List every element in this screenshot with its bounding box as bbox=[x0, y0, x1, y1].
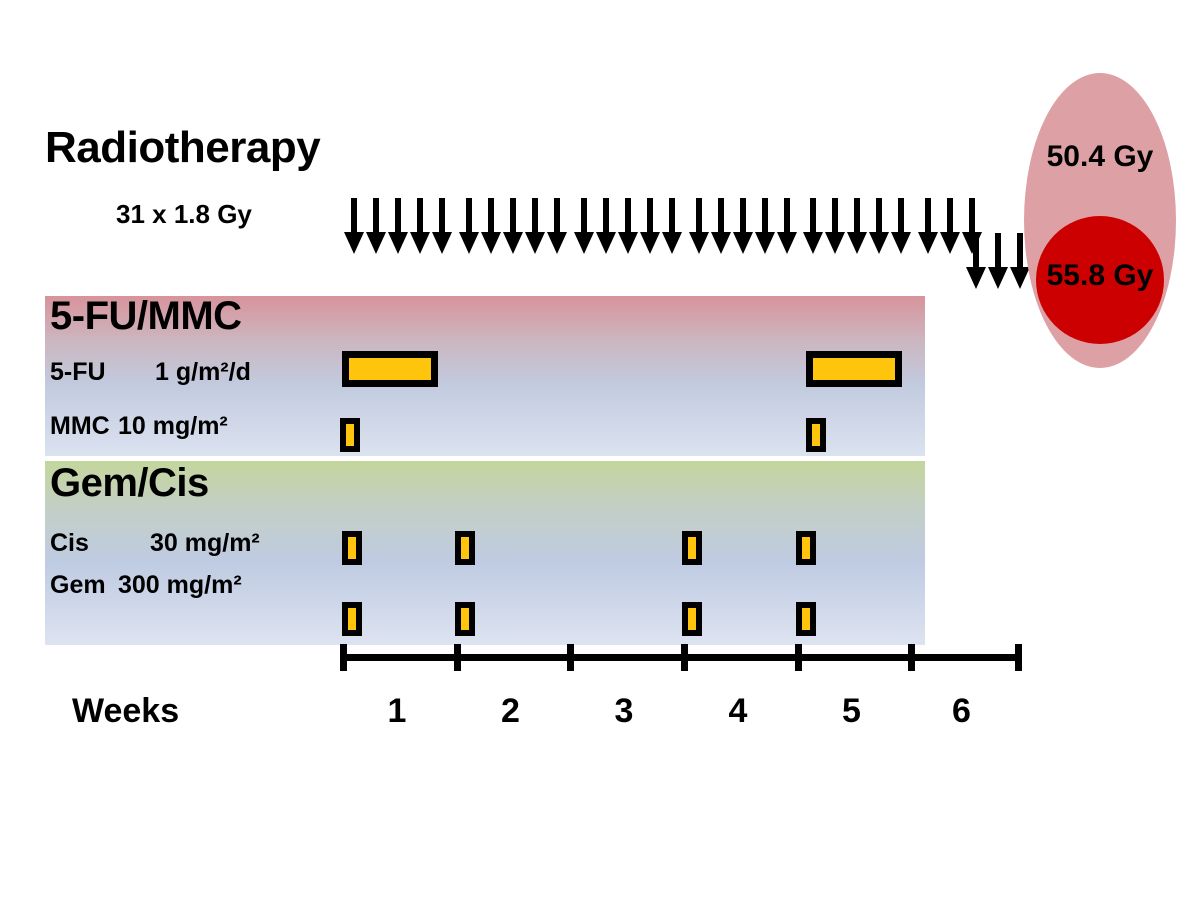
timeline-tick-3 bbox=[681, 644, 688, 671]
drug-name-5fu: 5-FU bbox=[50, 358, 155, 387]
arrow-head bbox=[574, 232, 594, 254]
arrow-shaft bbox=[395, 198, 401, 236]
arrow-head bbox=[547, 232, 567, 254]
arrow-shaft bbox=[832, 198, 838, 236]
timeline-tick-5 bbox=[908, 644, 915, 671]
arrow-shaft bbox=[625, 198, 631, 236]
treatment-marker-cis bbox=[342, 531, 362, 565]
arrow-shaft bbox=[603, 198, 609, 236]
arrow-shaft bbox=[696, 198, 702, 236]
arrow-shaft bbox=[669, 198, 675, 236]
radiation-fraction-arrow-icon bbox=[344, 198, 364, 254]
treatment-marker-5fu bbox=[342, 351, 438, 387]
arrow-head bbox=[940, 232, 960, 254]
arrow-head bbox=[640, 232, 660, 254]
arrow-shaft bbox=[581, 198, 587, 236]
drug-label-cis: Cis30 mg/m² bbox=[50, 529, 260, 558]
radiation-fraction-arrow-icon bbox=[503, 198, 523, 254]
treatment-marker-cis bbox=[455, 531, 475, 565]
arrow-shaft bbox=[417, 198, 423, 236]
treatment-marker-mmc bbox=[340, 418, 360, 452]
drug-name-mmc: MMC bbox=[50, 412, 118, 441]
timeline-axis-label: Weeks bbox=[72, 692, 179, 731]
radiation-fraction-arrow-icon bbox=[574, 198, 594, 254]
week-label-3: 3 bbox=[594, 692, 654, 731]
arrow-shaft bbox=[532, 198, 538, 236]
timeline-tick-0 bbox=[340, 644, 347, 671]
arrow-head bbox=[410, 232, 430, 254]
arrow-head bbox=[459, 232, 479, 254]
treatment-marker-5fu bbox=[806, 351, 902, 387]
week-label-1: 1 bbox=[367, 692, 427, 731]
arrow-head bbox=[777, 232, 797, 254]
arrow-shaft bbox=[876, 198, 882, 236]
arrow-shaft bbox=[373, 198, 379, 236]
week-label-4: 4 bbox=[708, 692, 768, 731]
radiation-fraction-arrow-icon bbox=[618, 198, 638, 254]
arrow-shaft bbox=[718, 198, 724, 236]
arrow-head bbox=[918, 232, 938, 254]
arrow-head bbox=[869, 232, 889, 254]
regimen-band-gem-cis: Gem/Cis Cis30 mg/m² Gem300 mg/m² bbox=[45, 461, 925, 645]
week-label-5: 5 bbox=[822, 692, 882, 731]
radiation-fraction-arrow-icon bbox=[662, 198, 682, 254]
treatment-marker-cis bbox=[796, 531, 816, 565]
arrow-shaft bbox=[995, 233, 1001, 271]
arrow-shaft bbox=[439, 198, 445, 236]
radiation-fraction-arrow-icon bbox=[966, 233, 986, 289]
arrow-head bbox=[366, 232, 386, 254]
week-label-2: 2 bbox=[481, 692, 541, 731]
radiation-fraction-arrow-icon bbox=[803, 198, 823, 254]
arrow-head bbox=[988, 267, 1008, 289]
arrow-shaft bbox=[740, 198, 746, 236]
arrow-shaft bbox=[554, 198, 560, 236]
arrow-head bbox=[711, 232, 731, 254]
arrow-shaft bbox=[898, 198, 904, 236]
regimen-title-gem-cis: Gem/Cis bbox=[50, 461, 209, 506]
arrow-head bbox=[596, 232, 616, 254]
radiation-fraction-arrow-icon bbox=[869, 198, 889, 254]
radiation-fraction-arrow-icon bbox=[918, 198, 938, 254]
arrow-head bbox=[432, 232, 452, 254]
arrow-shaft bbox=[925, 198, 931, 236]
treatment-marker-cis bbox=[682, 531, 702, 565]
regimen-title-fu-mmc: 5-FU/MMC bbox=[50, 294, 242, 339]
arrow-shaft bbox=[466, 198, 472, 236]
treatment-marker-gem bbox=[682, 602, 702, 636]
arrow-head bbox=[962, 232, 982, 254]
arrow-shaft bbox=[973, 233, 979, 271]
arrow-head bbox=[689, 232, 709, 254]
radiation-fraction-arrow-icon bbox=[640, 198, 660, 254]
arrow-shaft bbox=[510, 198, 516, 236]
radiation-fraction-arrow-icon bbox=[432, 198, 452, 254]
drug-name-gem: Gem bbox=[50, 571, 118, 600]
radiation-fraction-arrow-icon bbox=[988, 233, 1008, 289]
arrow-head bbox=[525, 232, 545, 254]
radiotherapy-title: Radiotherapy bbox=[45, 123, 320, 173]
arrow-head bbox=[755, 232, 775, 254]
arrow-shaft bbox=[854, 198, 860, 236]
timeline-tick-6 bbox=[1015, 644, 1022, 671]
diagram-canvas: Radiotherapy 31 x 1.8 Gy 50.4 Gy 55.8 Gy… bbox=[0, 0, 1200, 900]
treatment-marker-mmc bbox=[806, 418, 826, 452]
radiation-fraction-arrow-icon bbox=[459, 198, 479, 254]
drug-dose-gem: 300 mg/m² bbox=[118, 571, 242, 600]
radiation-fraction-arrow-icon bbox=[940, 198, 960, 254]
arrow-head bbox=[662, 232, 682, 254]
radiation-fraction-arrow-icon bbox=[547, 198, 567, 254]
drug-label-5fu: 5-FU1 g/m²/d bbox=[50, 358, 251, 387]
arrow-shaft bbox=[784, 198, 790, 236]
arrow-head bbox=[733, 232, 753, 254]
dose-level-diagram: 50.4 Gy 55.8 Gy bbox=[1024, 73, 1176, 368]
arrow-head bbox=[618, 232, 638, 254]
drug-dose-mmc: 10 mg/m² bbox=[118, 412, 228, 441]
arrow-head bbox=[503, 232, 523, 254]
arrow-shaft bbox=[647, 198, 653, 236]
regimen-band-fu-mmc: 5-FU/MMC 5-FU1 g/m²/d MMC10 mg/m² bbox=[45, 296, 925, 456]
radiation-fraction-arrow-icon bbox=[689, 198, 709, 254]
radiation-fraction-arrow-icon bbox=[410, 198, 430, 254]
arrow-shaft bbox=[1017, 233, 1023, 271]
radiation-fraction-arrow-icon bbox=[891, 198, 911, 254]
timeline-tick-4 bbox=[795, 644, 802, 671]
arrow-shaft bbox=[947, 198, 953, 236]
arrow-shaft bbox=[810, 198, 816, 236]
treatment-marker-gem bbox=[342, 602, 362, 636]
radiation-fraction-arrow-icon bbox=[962, 198, 982, 254]
radiation-fraction-arrow-icon bbox=[596, 198, 616, 254]
arrow-head bbox=[847, 232, 867, 254]
radiation-fraction-arrow-icon bbox=[711, 198, 731, 254]
drug-dose-cis: 30 mg/m² bbox=[150, 529, 260, 558]
arrow-head bbox=[344, 232, 364, 254]
arrow-head bbox=[891, 232, 911, 254]
drug-label-gem: Gem300 mg/m² bbox=[50, 571, 242, 600]
radiation-fraction-arrow-icon bbox=[388, 198, 408, 254]
radiation-fraction-arrow-icon bbox=[777, 198, 797, 254]
radiotherapy-fractionation-label: 31 x 1.8 Gy bbox=[116, 199, 252, 230]
radiation-fraction-arrow-icon bbox=[733, 198, 753, 254]
radiation-fraction-arrow-icon bbox=[825, 198, 845, 254]
radiation-fraction-arrow-icon bbox=[481, 198, 501, 254]
arrow-shaft bbox=[488, 198, 494, 236]
radiation-fraction-arrow-icon bbox=[755, 198, 775, 254]
arrow-head bbox=[825, 232, 845, 254]
dose-label-outer: 50.4 Gy bbox=[1024, 140, 1176, 174]
treatment-marker-gem bbox=[796, 602, 816, 636]
treatment-marker-gem bbox=[455, 602, 475, 636]
timeline-tick-1 bbox=[454, 644, 461, 671]
radiation-fraction-arrow-icon bbox=[525, 198, 545, 254]
drug-name-cis: Cis bbox=[50, 529, 150, 558]
dose-label-inner: 55.8 Gy bbox=[1024, 259, 1176, 293]
week-label-6: 6 bbox=[932, 692, 992, 731]
arrow-head bbox=[966, 267, 986, 289]
drug-dose-5fu: 1 g/m²/d bbox=[155, 358, 251, 387]
radiation-fraction-arrow-icon bbox=[366, 198, 386, 254]
arrow-head bbox=[803, 232, 823, 254]
arrow-head bbox=[481, 232, 501, 254]
arrow-head bbox=[388, 232, 408, 254]
radiation-fraction-arrow-icon bbox=[847, 198, 867, 254]
arrow-shaft bbox=[969, 198, 975, 236]
arrow-shaft bbox=[351, 198, 357, 236]
arrow-shaft bbox=[762, 198, 768, 236]
drug-label-mmc: MMC10 mg/m² bbox=[50, 412, 228, 441]
timeline-tick-2 bbox=[567, 644, 574, 671]
